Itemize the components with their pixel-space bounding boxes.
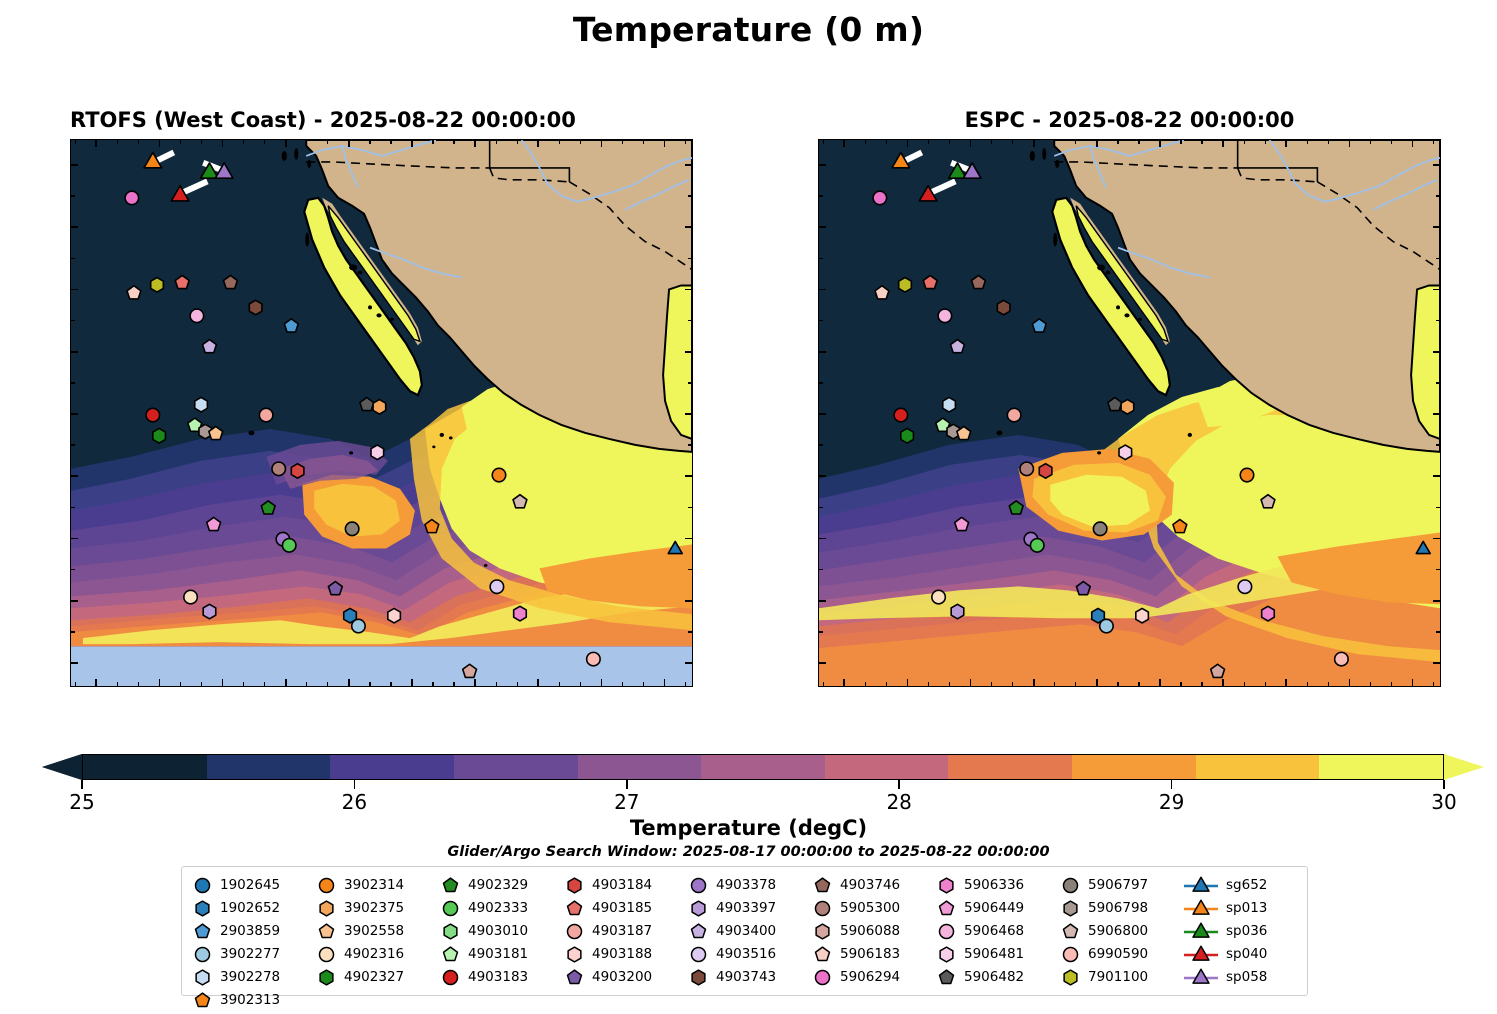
legend-label: 3902375 [344,902,404,916]
y-tick-minor [819,569,823,570]
x-tick-minor [1138,140,1139,144]
x-tick-minor [1391,140,1392,144]
y-tick-minor [819,258,823,259]
circle-marker-icon [687,876,709,896]
legend-label: 5906481 [964,948,1024,962]
legend-item-4903378[interactable]: 4903378 [687,875,811,896]
y-tick-minor [688,444,692,445]
legend-item-4903187[interactable]: 4903187 [563,921,687,942]
legend-label: 4903185 [592,902,652,916]
colorbar-segment-0 [83,755,207,779]
colorbar-segment-5 [701,755,825,779]
legend-label: 4903010 [468,925,528,939]
x-tick-minor [886,682,887,686]
legend-label: 1902652 [220,902,280,916]
legend-label: 4903743 [716,971,776,985]
legend-label: 5906798 [1088,902,1148,916]
legend-item-4903010[interactable]: 4903010 [439,921,563,942]
legend-item-5906481[interactable]: 5906481 [935,944,1059,965]
y-tick-major [819,662,826,664]
x-tick-minor [1370,682,1371,686]
y-tick-major [1433,475,1440,477]
hexagon-marker-icon [687,968,709,988]
x-tick-major [1159,140,1161,147]
y-tick-major [685,475,692,477]
pentagon-marker-icon [935,899,957,919]
legend-label: 4903378 [716,879,776,893]
x-tick-minor [496,682,497,686]
x-tick-minor [685,682,686,686]
y-tick-minor [688,258,692,259]
x-tick-minor [496,140,497,144]
x-tick-major [907,679,909,686]
pentagon-marker-icon [439,876,461,896]
y-tick-minor [71,382,75,383]
legend-item-4902327[interactable]: 4902327 [315,967,439,988]
glider-track-marker-icon [1183,945,1219,965]
y-tick-minor [71,631,75,632]
y-tick-major [685,662,692,664]
legend-item-sp040[interactable]: sp040 [1183,944,1293,965]
colorbar-tick [1171,780,1173,789]
y-tick-major [685,538,692,540]
glider-track-marker-icon [1183,876,1219,896]
pentagon-marker-icon [315,922,337,942]
colorbar-low-extend-arrow [42,754,82,780]
legend-item-5906336[interactable]: 5906336 [935,875,1059,896]
legend-item-4903397[interactable]: 4903397 [687,898,811,919]
circle-marker-icon [687,945,709,965]
colorbar-tick [81,780,83,789]
x-tick-minor [1180,682,1181,686]
x-tick-major [159,679,161,686]
circle-marker-icon [1059,945,1081,965]
y-tick-major [819,413,826,415]
hexagon-marker-icon [315,899,337,919]
y-tick-minor [688,195,692,196]
legend-item-4902316[interactable]: 4902316 [315,944,439,965]
legend-label: 6990590 [1088,948,1148,962]
float-glider-legend: 1902645190265229038593902277390227839023… [181,866,1308,996]
x-tick-major [1222,140,1224,147]
y-tick-minor [1436,507,1440,508]
x-tick-minor [432,682,433,686]
panel-title-rtofs: RTOFS (West Coast) - 2025-08-22 00:00:00 [70,108,693,132]
y-tick-major [1433,413,1440,415]
y-tick-major [71,475,78,477]
legend-item-3902375[interactable]: 3902375 [315,898,439,919]
x-tick-minor [1433,140,1434,144]
colorbar-segment-4 [578,755,702,779]
x-tick-minor [453,682,454,686]
x-tick-minor [991,140,992,144]
hexagon-marker-icon [439,922,461,942]
y-tick-major [685,164,692,166]
x-tick-minor [1012,682,1013,686]
x-tick-minor [117,682,118,686]
x-tick-minor [1117,682,1118,686]
x-tick-major [537,679,539,686]
x-tick-major [1349,140,1351,147]
x-tick-minor [823,682,824,686]
x-tick-minor [180,140,181,144]
legend-item-5906294[interactable]: 5906294 [811,967,935,988]
legend-item-3902558[interactable]: 3902558 [315,921,439,942]
legend-item-sp036[interactable]: sp036 [1183,921,1293,942]
x-tick-minor [243,682,244,686]
legend-item-7901100[interactable]: 7901100 [1059,967,1183,988]
x-tick-minor [138,140,139,144]
x-tick-major [1349,679,1351,686]
legend-item-4903185[interactable]: 4903185 [563,898,687,919]
legend-item-4902333[interactable]: 4902333 [439,898,563,919]
colorbar-tick-label: 27 [614,790,639,814]
y-tick-major [71,600,78,602]
y-tick-major [1433,164,1440,166]
x-tick-major [474,679,476,686]
legend-item-5906800[interactable]: 5906800 [1059,921,1183,942]
x-tick-minor [327,140,328,144]
y-tick-minor [1436,320,1440,321]
x-tick-minor [928,140,929,144]
colorbar-tick [898,780,900,789]
figure-title: Temperature (0 m) [0,10,1497,49]
y-tick-major [71,413,78,415]
legend-item-4903200[interactable]: 4903200 [563,967,687,988]
legend-label: 7901100 [1088,971,1148,985]
x-tick-minor [580,140,581,144]
legend-label: sg652 [1226,879,1267,893]
legend-column-0: 1902645190265229038593902277390227839023… [191,875,315,1011]
legend-item-sg652[interactable]: sg652 [1183,875,1293,896]
x-tick-minor [1328,682,1329,686]
map-canvas-espc[interactable]: 33°N30°N27°N24°N21°N18°N15°N12°N9°N126°W… [818,139,1441,687]
y-tick-major [1433,289,1440,291]
glider-track-marker-icon [1183,899,1219,919]
x-tick-minor [559,140,560,144]
x-tick-minor [1138,682,1139,686]
x-tick-minor [643,682,644,686]
legend-item-5906449[interactable]: 5906449 [935,898,1059,919]
y-tick-minor [1436,195,1440,196]
y-tick-minor [819,382,823,383]
x-tick-major [907,140,909,147]
legend-label: 1902645 [220,879,280,893]
pentagon-marker-icon [563,968,585,988]
x-tick-minor [201,682,202,686]
x-tick-minor [949,140,950,144]
legend-label: 4903184 [592,879,652,893]
y-tick-major [1433,662,1440,664]
x-tick-minor [865,140,866,144]
x-tick-major [1096,140,1098,147]
pentagon-marker-icon [935,968,957,988]
legend-item-5906088[interactable]: 5906088 [811,921,935,942]
colorbar-segment-2 [330,755,454,779]
colorbar-segment-3 [454,755,578,779]
pentagon-marker-icon [1059,922,1081,942]
y-tick-minor [71,258,75,259]
y-tick-major [685,226,692,228]
legend-item-4903516[interactable]: 4903516 [687,944,811,965]
x-tick-minor [1328,140,1329,144]
circle-marker-icon [315,876,337,896]
x-tick-major [411,140,413,147]
pentagon-marker-icon [191,991,213,1011]
hexagon-marker-icon [315,968,337,988]
legend-item-5906482[interactable]: 5906482 [935,967,1059,988]
legend-label: 2903859 [220,925,280,939]
hexagon-marker-icon [687,899,709,919]
y-tick-major [1433,351,1440,353]
x-tick-minor [1307,682,1308,686]
x-tick-major [1285,679,1287,686]
x-tick-minor [949,682,950,686]
legend-item-3902314[interactable]: 3902314 [315,875,439,896]
y-tick-minor [1436,631,1440,632]
pentagon-marker-icon [563,899,585,919]
x-tick-minor [453,140,454,144]
colorbar-tick-label: 29 [1159,790,1184,814]
hexagon-marker-icon [811,922,833,942]
x-tick-minor [1244,682,1245,686]
colorbar-segment-7 [948,755,1072,779]
legend-column-5: 49037465905300590608859061835906294 [811,875,935,1011]
x-tick-minor [991,682,992,686]
x-tick-major [474,140,476,147]
legend-item-4903400[interactable]: 4903400 [687,921,811,942]
legend-item-3902313[interactable]: 3902313 [191,990,315,1011]
legend-item-sp058[interactable]: sp058 [1183,967,1293,988]
y-tick-minor [819,507,823,508]
x-tick-minor [1012,140,1013,144]
legend-label: 4903181 [468,948,528,962]
y-tick-minor [688,631,692,632]
legend-label: 4902327 [344,971,404,985]
legend-item-5905300[interactable]: 5905300 [811,898,935,919]
x-tick-minor [1265,682,1266,686]
colorbar-high-extend-arrow [1444,754,1484,780]
y-tick-minor [1436,569,1440,570]
x-tick-major [222,679,224,686]
x-tick-major [843,140,845,147]
legend-item-3902278[interactable]: 3902278 [191,967,315,988]
x-tick-minor [264,682,265,686]
x-tick-minor [559,682,560,686]
legend-label: 5906797 [1088,879,1148,893]
legend-item-4903183[interactable]: 4903183 [439,967,563,988]
legend-label: 5906468 [964,925,1024,939]
legend-item-4902329[interactable]: 4902329 [439,875,563,896]
hexagon-marker-icon [935,876,957,896]
legend-label: 3902278 [220,971,280,985]
legend-label: 4902333 [468,902,528,916]
x-tick-major [601,140,603,147]
colorbar-tick-label: 30 [1431,790,1456,814]
legend-label: 5906800 [1088,925,1148,939]
legend-column-gliders: sg652sp013sp036sp040sp058 [1183,875,1293,1011]
y-tick-major [685,413,692,415]
y-tick-major [71,538,78,540]
y-tick-minor [688,507,692,508]
x-tick-minor [1180,140,1181,144]
legend-item-6990590[interactable]: 6990590 [1059,944,1183,965]
colorbar-tick [1443,780,1445,789]
legend-column-1: 39023143902375390255849023164902327 [315,875,439,1011]
circle-marker-icon [811,899,833,919]
legend-label: 4903187 [592,925,652,939]
x-tick-minor [138,682,139,686]
x-tick-major [95,140,97,147]
x-tick-major [537,140,539,147]
y-tick-major [819,475,826,477]
y-tick-major [685,600,692,602]
x-tick-major [601,679,603,686]
legend-item-1902645[interactable]: 1902645 [191,875,315,896]
x-tick-minor [1265,140,1266,144]
x-tick-major [348,679,350,686]
legend-label: sp058 [1226,971,1267,985]
legend-label: 4902329 [468,879,528,893]
x-tick-major [159,140,161,147]
legend-label: 3902558 [344,925,404,939]
y-tick-major [71,662,78,664]
legend-label: 4903397 [716,902,776,916]
x-tick-major [1285,140,1287,147]
y-tick-major [819,164,826,166]
circle-marker-icon [935,922,957,942]
legend-column-4: 49033784903397490340049035164903743 [687,875,811,1011]
x-tick-minor [865,682,866,686]
x-tick-minor [580,682,581,686]
circle-marker-icon [191,876,213,896]
hexagon-marker-icon [191,968,213,988]
glider-track-marker-icon [1183,968,1219,988]
legend-item-sp013[interactable]: sp013 [1183,898,1293,919]
legend-item-5906798[interactable]: 5906798 [1059,898,1183,919]
circle-marker-icon [1059,876,1081,896]
x-tick-minor [1075,682,1076,686]
pentagon-marker-icon [811,876,833,896]
x-tick-minor [685,140,686,144]
legend-label: 4903746 [840,879,900,893]
hexagon-marker-icon [191,899,213,919]
y-tick-minor [71,195,75,196]
legend-item-5906797[interactable]: 5906797 [1059,875,1183,896]
glider-track-marker-icon [1183,922,1219,942]
y-tick-major [685,289,692,291]
y-tick-minor [1436,258,1440,259]
hexagon-marker-icon [1059,968,1081,988]
legend-item-4903188[interactable]: 4903188 [563,944,687,965]
x-tick-minor [1433,682,1434,686]
colorbar: 252627282930 Temperature (degC) Glider/A… [0,748,1497,868]
legend-item-4903746[interactable]: 4903746 [811,875,935,896]
y-tick-major [1433,600,1440,602]
legend-item-5906468[interactable]: 5906468 [935,921,1059,942]
x-tick-minor [1054,682,1055,686]
legend-item-4903181[interactable]: 4903181 [439,944,563,965]
search-window-caption: Glider/Argo Search Window: 2025-08-17 00… [0,844,1497,860]
legend-item-3902277[interactable]: 3902277 [191,944,315,965]
colorbar-segment-1 [207,755,331,779]
legend-item-4903184[interactable]: 4903184 [563,875,687,896]
x-tick-major [970,679,972,686]
hexagon-marker-icon [935,945,957,965]
axis-ticks-rtofs: 33°N30°N27°N24°N21°N18°N15°N12°N9°N126°W… [71,140,692,686]
circle-marker-icon [439,968,461,988]
y-tick-major [71,226,78,228]
x-tick-minor [75,682,76,686]
y-tick-major [685,351,692,353]
legend-item-1902652[interactable]: 1902652 [191,898,315,919]
y-tick-minor [1436,382,1440,383]
y-tick-minor [688,320,692,321]
legend-label: 4903183 [468,971,528,985]
y-tick-major [819,226,826,228]
legend-label: 4903400 [716,925,776,939]
x-tick-minor [928,682,929,686]
legend-label: 3902313 [220,994,280,1008]
circle-marker-icon [439,899,461,919]
colorbar-body [82,754,1444,780]
legend-item-2903859[interactable]: 2903859 [191,921,315,942]
x-tick-minor [369,682,370,686]
map-panel-espc: ESPC - 2025-08-22 00:00:00 [818,139,1441,687]
x-tick-minor [1054,140,1055,144]
x-tick-minor [622,682,623,686]
colorbar-tick-label: 28 [886,790,911,814]
y-tick-major [1433,226,1440,228]
hexagon-marker-icon [563,945,585,965]
hexagon-marker-icon [1059,899,1081,919]
colorbar-tick-label: 26 [342,790,367,814]
y-tick-major [819,600,826,602]
legend-label: sp036 [1226,925,1267,939]
x-tick-minor [306,682,307,686]
colorbar-tick-label: 25 [69,790,94,814]
y-tick-major [71,289,78,291]
pentagon-marker-icon [687,922,709,942]
x-tick-major [411,679,413,686]
x-tick-major [970,140,972,147]
legend-column-3: 49031844903185490318749031884903200 [563,875,687,1011]
legend-column-2: 49023294902333490301049031814903183 [439,875,563,1011]
x-tick-major [843,679,845,686]
map-canvas-rtofs[interactable]: 33°N30°N27°N24°N21°N18°N15°N12°N9°N126°W… [70,139,693,687]
y-tick-major [819,538,826,540]
x-tick-minor [1370,140,1371,144]
legend-item-5906183[interactable]: 5906183 [811,944,935,965]
x-tick-minor [1307,140,1308,144]
x-tick-major [1033,140,1035,147]
legend-label: 3902314 [344,879,404,893]
y-tick-minor [819,444,823,445]
circle-marker-icon [811,968,833,988]
legend-item-4903743[interactable]: 4903743 [687,967,811,988]
pentagon-marker-icon [191,922,213,942]
x-tick-minor [622,140,623,144]
x-tick-major [1222,679,1224,686]
y-tick-minor [71,320,75,321]
circle-marker-icon [315,945,337,965]
y-tick-minor [71,569,75,570]
colorbar-title: Temperature (degC) [0,816,1497,840]
colorbar-tick [354,780,356,789]
y-tick-major [819,289,826,291]
x-tick-major [1412,679,1414,686]
x-tick-minor [369,140,370,144]
